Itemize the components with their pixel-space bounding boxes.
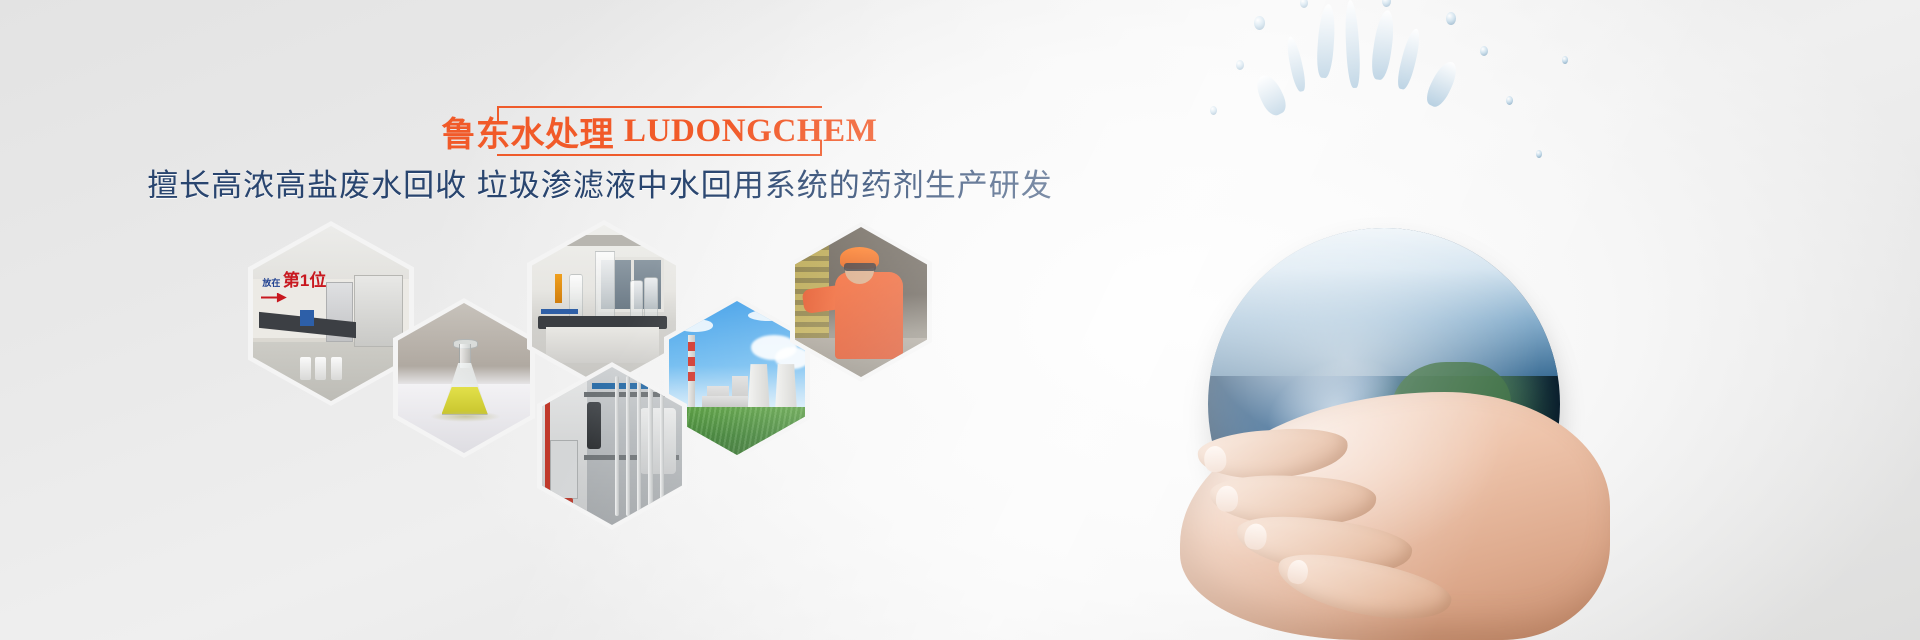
brand-title-english: LUDONGCHEM bbox=[624, 113, 878, 150]
hexagon-laboratory-glassware bbox=[527, 220, 681, 392]
brand-title: 鲁东水处理 LUDONGCHEM bbox=[497, 106, 822, 156]
hand-holding-water-globe bbox=[1030, 0, 1920, 640]
hexagon-yellow-flask bbox=[393, 298, 535, 458]
hexagon-worker bbox=[790, 222, 932, 382]
brand-title-chinese: 鲁东水处理 bbox=[442, 107, 615, 156]
hexagon-laboratory-room: 放在 第1位 bbox=[248, 221, 414, 406]
wall-slogan: 放在 第1位 bbox=[262, 272, 326, 291]
brand-title-frame: 鲁东水处理 LUDONGCHEM bbox=[497, 106, 822, 156]
banner-subtitle: 擅长高浓高盐废水回收 垃圾渗滤液中水回用系统的药剂生产研发 bbox=[0, 160, 1200, 205]
hero-banner: 鲁东水处理 LUDONGCHEM 擅长高浓高盐废水回收 垃圾渗滤液中水回用系统的… bbox=[0, 0, 1920, 640]
